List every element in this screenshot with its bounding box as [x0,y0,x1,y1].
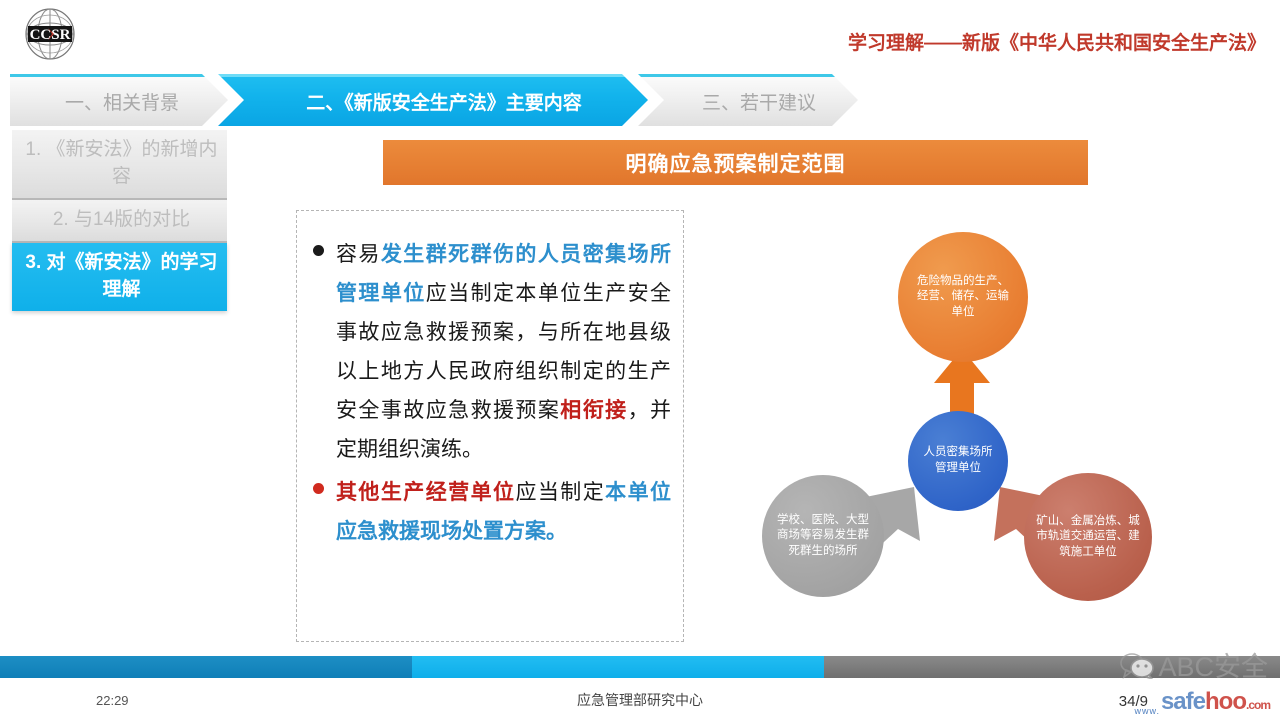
tab-suggestions[interactable]: 三、若干建议 [638,74,858,126]
watermark-abc-label: ABC安全 [1158,645,1268,684]
globe-icon: CCSR [18,6,82,62]
content-panel: 容易发生群死群伤的人员密集场所管理单位应当制定本单位生产安全事故应急救援预案，与… [296,210,684,642]
page-title: 学习理解——新版《中华人民共和国安全生产法》 [848,28,1266,55]
list-item: 容易发生群死群伤的人员密集场所管理单位应当制定本单位生产安全事故应急救援预案，与… [307,235,671,469]
tab-label: 三、若干建议 [702,88,816,115]
watermark-www-label: www. [1134,706,1160,716]
relationship-diagram: 危险物品的生产、经营、储存、运输单位 人员密集场所管理单位 学校、医院、大型商场… [740,215,1170,635]
node-label: 矿山、金属冶炼、城市轨道交通运营、建筑施工单位 [1034,514,1142,561]
tab-background[interactable]: 一、相关背景 [10,74,228,126]
watermark-abc-safety: ABC安全 [1120,645,1268,684]
text-segment: 容易 [336,243,381,266]
sidebar-item-new-content[interactable]: 1. 《新安法》的新增内容 [12,130,227,200]
sidebar-item-label: 3. 对《新安法》的学习理解 [25,252,217,300]
tab-main-content[interactable]: 二、《新版安全生产法》主要内容 [218,74,648,126]
bullet-dot-icon [313,483,324,494]
text-segment: 应当制定 [515,481,605,504]
watermark-safehoo-part1: safe [1161,688,1205,715]
tab-label: 二、《新版安全生产法》主要内容 [306,88,582,115]
sidebar: 1. 《新安法》的新增内容 2. 与14版的对比 3. 对《新安法》的学习理解 [12,130,227,311]
sidebar-item-label: 1. 《新安法》的新增内容 [25,139,217,187]
diagram-node-mining-construction[interactable]: 矿山、金属冶炼、城市轨道交通运营、建筑施工单位 [1024,473,1152,601]
bullet-text: 其他生产经营单位应当制定本单位应急救援现场处置方案。 [336,473,671,551]
diagram-node-crowded-places[interactable]: 人员密集场所管理单位 [908,411,1008,511]
footer-bar-segment-dark [0,656,412,678]
node-label: 学校、医院、大型商场等容易发生群死群生的场所 [774,513,872,560]
sidebar-item-study[interactable]: 3. 对《新安法》的学习理解 [12,243,227,311]
node-label: 危险物品的生产、经营、储存、运输单位 [914,274,1012,321]
bullet-dot-icon [313,245,324,256]
text-segment-highlight-red: 其他生产经营单位 [336,481,515,504]
sidebar-item-label: 2. 与14版的对比 [53,209,190,230]
list-item: 其他生产经营单位应当制定本单位应急救援现场处置方案。 [307,473,671,551]
watermark-safehoo-part2: hoo [1205,688,1246,715]
watermark-safehoo-part3: .com [1246,698,1270,712]
sidebar-item-comparison[interactable]: 2. 与14版的对比 [12,200,227,243]
tab-label: 一、相关背景 [65,88,179,115]
slide-canvas: CCSR 学习理解——新版《中华人民共和国安全生产法》 一、相关背景 二、《新版… [0,0,1280,720]
banner-label: 明确应急预案制定范围 [626,148,846,178]
diagram-node-schools-hospitals[interactable]: 学校、医院、大型商场等容易发生群死群生的场所 [762,475,884,597]
bullet-text: 容易发生群死群伤的人员密集场所管理单位应当制定本单位生产安全事故应急救援预案，与… [336,235,671,469]
wechat-icon [1120,651,1154,679]
text-segment-highlight-red: 相衔接 [560,399,627,422]
footer-organization: 应急管理部研究中心 [0,690,1280,710]
diagram-node-hazardous-materials[interactable]: 危险物品的生产、经营、储存、运输单位 [898,232,1028,362]
section-banner: 明确应急预案制定范围 [383,140,1088,185]
footer-bar-segment-cyan [412,656,824,678]
node-label: 人员密集场所管理单位 [918,445,998,476]
watermark-safehoo: safehoo.com [1161,688,1270,716]
svg-text:CCSR: CCSR [30,27,71,43]
footer-progress-bar [0,656,1280,678]
